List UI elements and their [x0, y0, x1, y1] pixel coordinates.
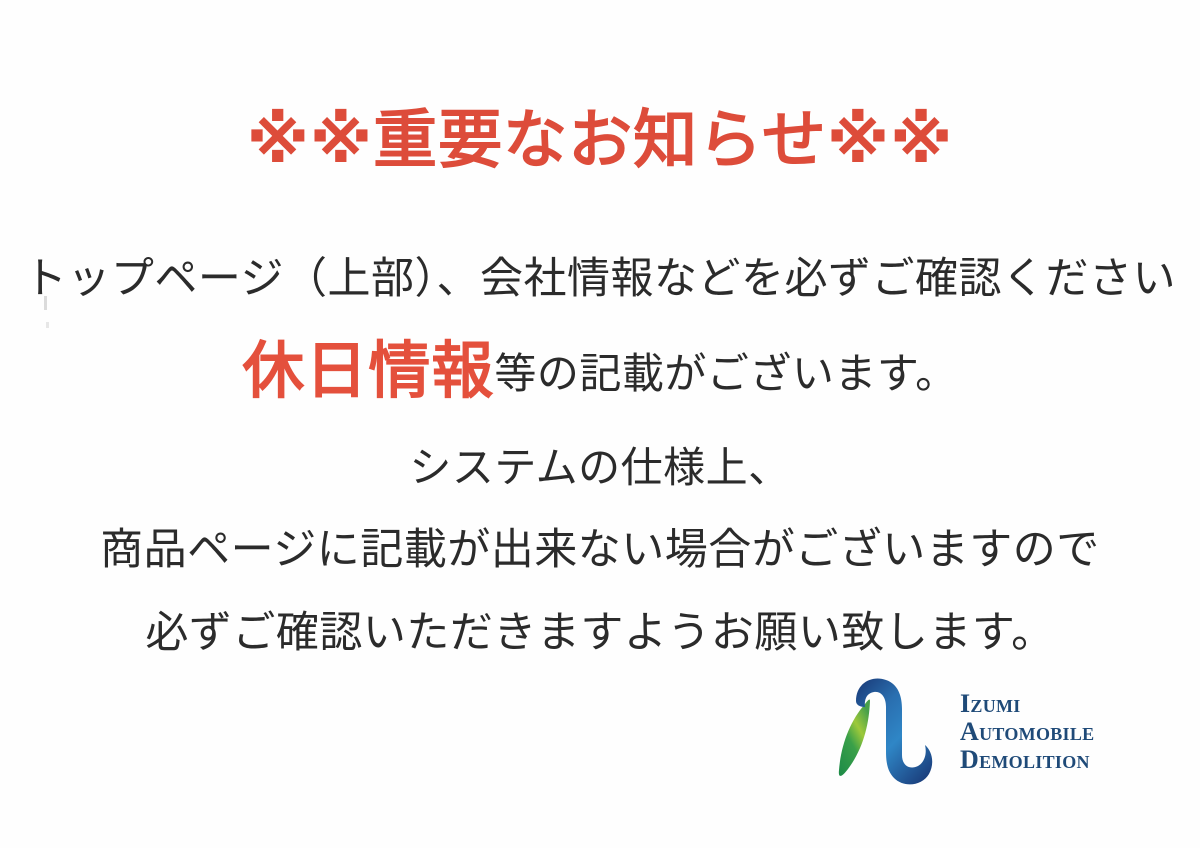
- izumi-wave-leaf-mark-icon: [836, 673, 946, 791]
- notice-line-check-top-page: トップページ（上部）、会社情報などを必ずご確認ください: [0, 258, 1200, 301]
- company-logo: Izumi Automobile Demolition: [836, 672, 1126, 792]
- logo-name-izumi: Izumi: [960, 690, 1094, 718]
- notice-body: トップページ（上部）、会社情報などを必ずご確認ください 休日情報等の記載がござい…: [0, 258, 1200, 655]
- logo-wordmark: Izumi Automobile Demolition: [960, 690, 1094, 774]
- notice-sheet: ※※重要なお知らせ※※ トップページ（上部）、会社情報などを必ずご確認ください …: [0, 0, 1200, 848]
- holiday-info-tail: 等の記載がございます。: [494, 350, 957, 397]
- holiday-info-emphasis: 休日情報: [242, 337, 494, 406]
- notice-headline: ※※重要なお知らせ※※: [0, 104, 1200, 178]
- notice-line-product-page: 商品ページに記載が出来ない場合がございますので: [0, 529, 1200, 572]
- logo-name-automobile: Automobile: [960, 718, 1094, 746]
- notice-line-please-confirm: 必ずご確認いただきますようお願い致します。: [0, 612, 1200, 655]
- notice-line-holiday-info: 休日情報等の記載がございます。: [0, 341, 1200, 403]
- logo-name-demolition: Demolition: [960, 746, 1094, 774]
- notice-line-system-spec: システムの仕様上、: [0, 447, 1200, 489]
